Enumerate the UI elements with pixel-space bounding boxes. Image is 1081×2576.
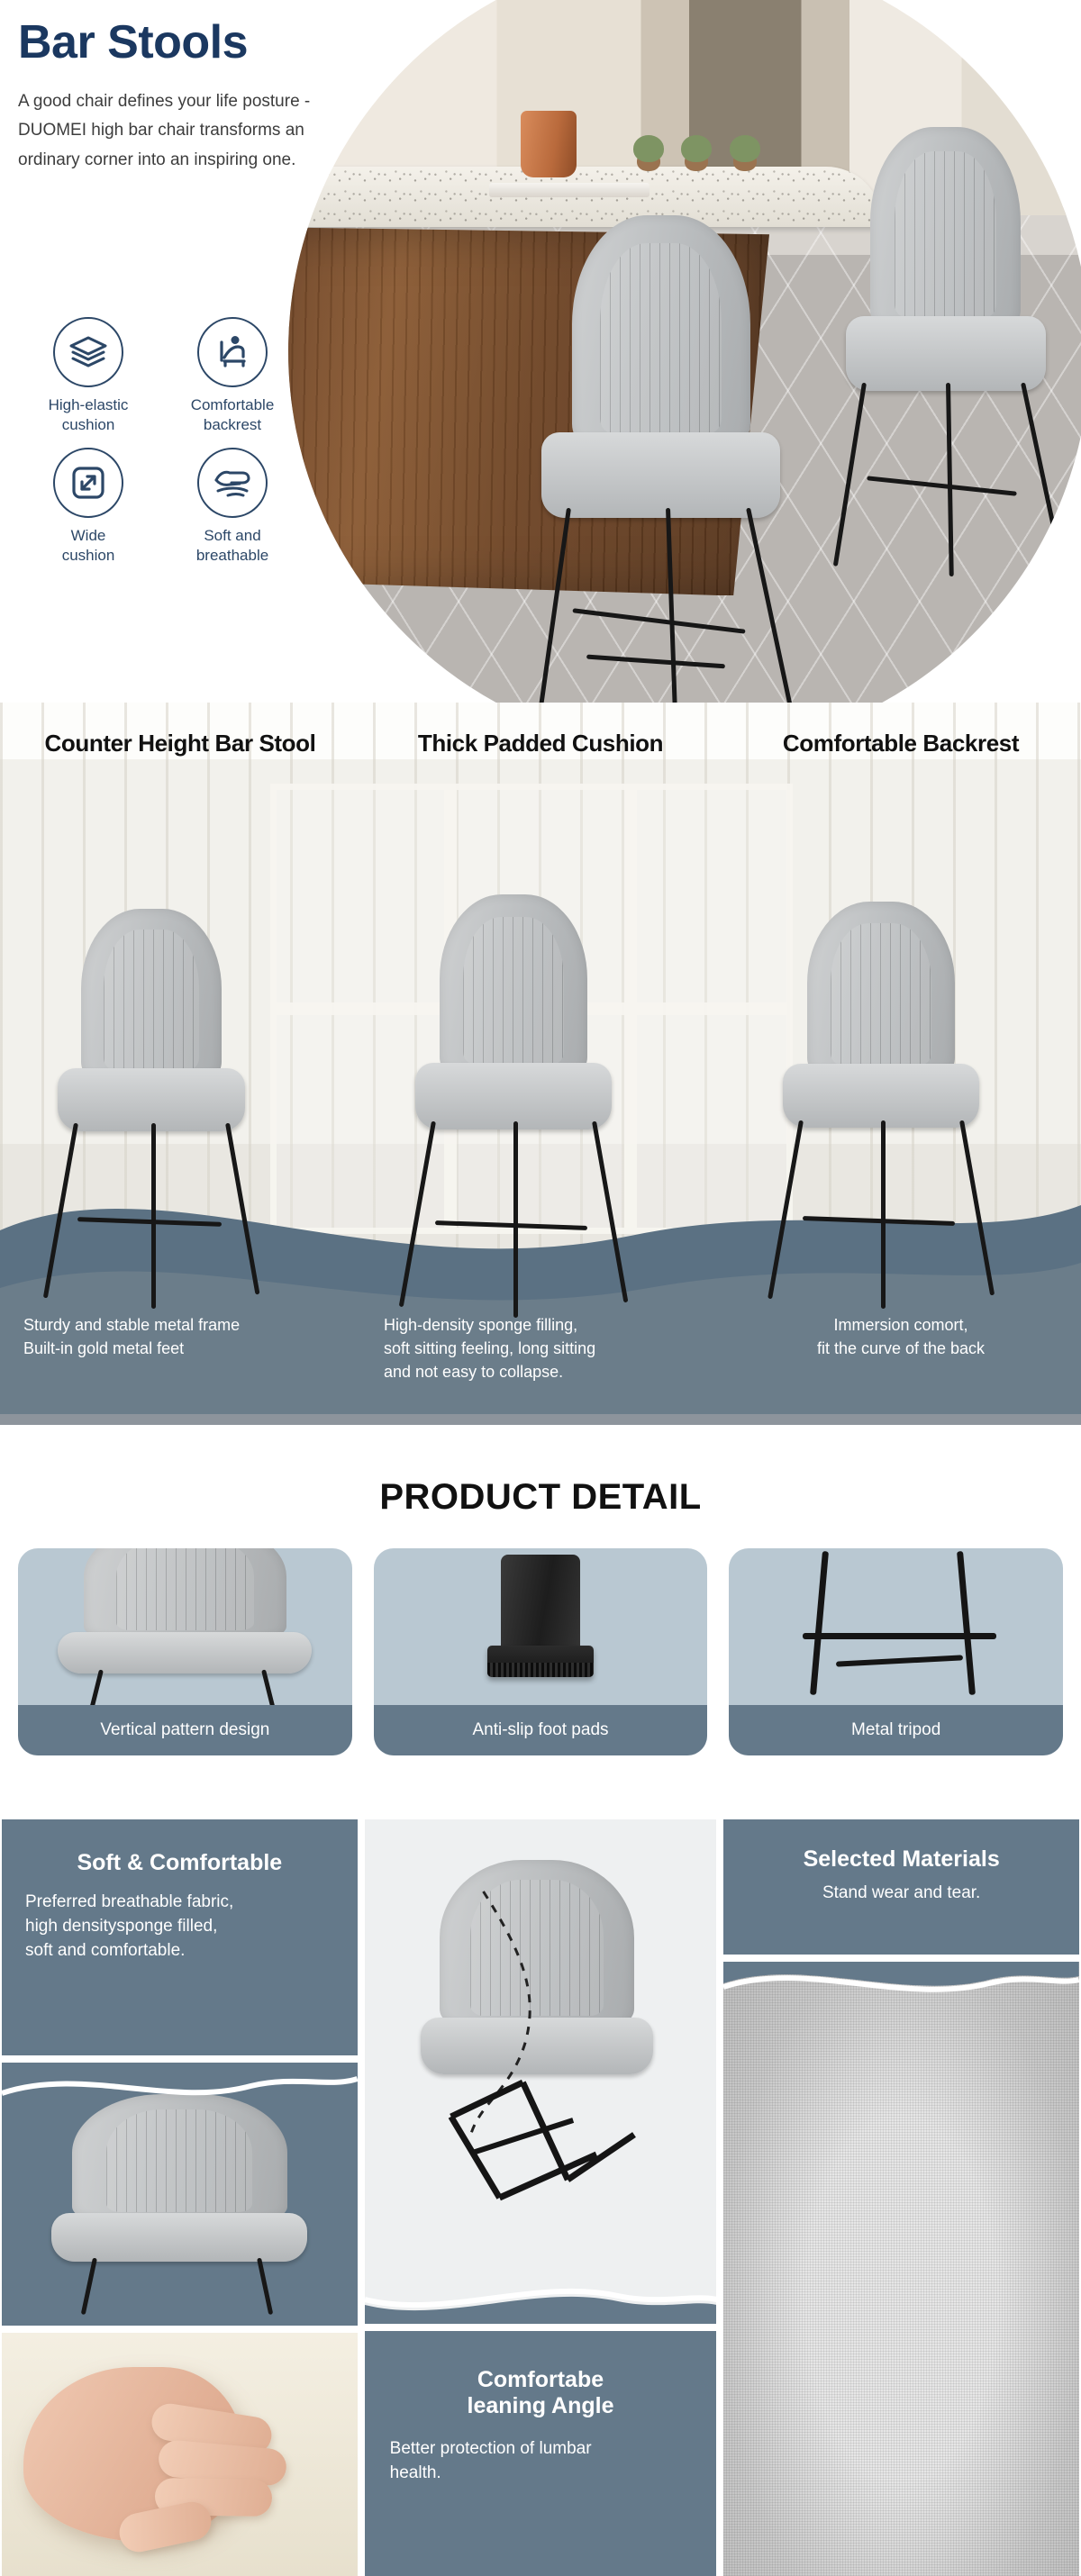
product-detail-title: PRODUCT DETAIL bbox=[0, 1425, 1081, 1518]
view-heading-thick-cushion: Thick Padded Cushion bbox=[360, 730, 721, 757]
bar-stool-side-view bbox=[54, 909, 249, 1279]
detail-card-vertical-pattern[interactable]: Vertical pattern design bbox=[18, 1548, 352, 1755]
stool-backrest bbox=[572, 215, 751, 453]
caption-line: Immersion comort, bbox=[744, 1313, 1058, 1337]
feature-label: Wide cushion bbox=[16, 526, 160, 566]
stool-seat bbox=[541, 432, 780, 518]
feature-label-line: breathable bbox=[196, 547, 268, 564]
bar-stool-back-view bbox=[778, 902, 984, 1279]
stool-seat bbox=[58, 1068, 244, 1131]
stool-seat bbox=[51, 2213, 307, 2262]
three-views-section: Counter Height Bar Stool Thick Padded Cu… bbox=[0, 703, 1081, 1414]
body-line: health. bbox=[390, 2462, 692, 2486]
section-divider-bar bbox=[0, 1414, 1081, 1425]
view-caption-frame: Sturdy and stable metal frame Built-in g… bbox=[0, 1313, 360, 1383]
stool-footrest bbox=[803, 1633, 996, 1639]
stool-footrest bbox=[803, 1216, 955, 1226]
seated-person-backrest-icon bbox=[197, 317, 268, 387]
stool-leg bbox=[257, 2257, 273, 2314]
feature-label-line: backrest bbox=[204, 416, 261, 433]
feature-label-line: cushion bbox=[62, 416, 115, 433]
wave-divider-bottom bbox=[365, 2281, 717, 2324]
feature-soft-and-breathable: Soft and breathable bbox=[160, 448, 304, 566]
stool-backrest bbox=[72, 2094, 287, 2222]
succulent-plant-prop bbox=[681, 135, 712, 162]
views-caption-row: Sturdy and stable metal frame Built-in g… bbox=[0, 1313, 1081, 1383]
stool-leg bbox=[81, 2257, 97, 2314]
detail-card-row: Vertical pattern design Anti-slip foot p… bbox=[0, 1518, 1081, 1755]
soft-chair-image bbox=[2, 2063, 358, 2326]
stool-leg bbox=[151, 1123, 156, 1308]
stool-leg bbox=[666, 508, 678, 703]
succulent-plant-prop bbox=[633, 135, 664, 162]
leaning-angle-body: Better protection of lumbar health. bbox=[390, 2437, 692, 2486]
view-caption-backrest: Immersion comort, fit the curve of the b… bbox=[721, 1313, 1081, 1383]
feature-label-line: Soft and bbox=[204, 527, 260, 544]
expand-arrows-icon bbox=[53, 448, 123, 518]
leaning-angle-image bbox=[365, 1819, 717, 2324]
soft-comfortable-panel: Soft & Comfortable Preferred breathable … bbox=[2, 1819, 358, 2055]
memory-foam-hand-image bbox=[2, 2333, 358, 2576]
feature-label-line: Wide bbox=[71, 527, 106, 544]
body-line: soft and comfortable. bbox=[25, 1939, 334, 1964]
detail-card-metal-tripod[interactable]: Metal tripod bbox=[729, 1548, 1063, 1755]
chair-seat-closeup bbox=[58, 1548, 312, 1705]
layers-cushion-icon bbox=[53, 317, 123, 387]
stool-leg bbox=[536, 508, 571, 703]
selected-materials-panel: Selected Materials Stand wear and tear. bbox=[723, 1819, 1079, 1955]
hero-text-block: Bar Stools A good chair defines your lif… bbox=[18, 18, 315, 176]
bar-stool-front bbox=[537, 215, 786, 703]
body-line: high densitysponge filled, bbox=[25, 1915, 334, 1939]
detail-card-image bbox=[374, 1548, 708, 1705]
caption-line: Built-in gold metal feet bbox=[23, 1337, 337, 1360]
lumbar-curve-annotation bbox=[365, 1819, 717, 2324]
selected-materials-body: Stand wear and tear. bbox=[747, 1882, 1056, 1906]
detail-card-image bbox=[729, 1548, 1063, 1705]
soft-comfortable-title: Soft & Comfortable bbox=[25, 1850, 334, 1876]
feature-label: High-elastic cushion bbox=[16, 395, 160, 435]
feature-high-elastic-cushion: High-elastic cushion bbox=[16, 317, 160, 435]
caption-line: High-density sponge filling, bbox=[384, 1313, 697, 1337]
bottom-column-left: Soft & Comfortable Preferred breathable … bbox=[2, 1819, 358, 2576]
page-title: Bar Stools bbox=[18, 18, 315, 68]
detail-card-caption: Metal tripod bbox=[729, 1705, 1063, 1755]
feature-label: Comfortable backrest bbox=[160, 395, 304, 435]
stool-backrest bbox=[870, 127, 1021, 334]
fabric-texture-image bbox=[723, 1962, 1079, 2576]
stool-backrest bbox=[440, 894, 587, 1078]
comfortable-leaning-angle-panel: Comfortabe leaning Angle Better protecti… bbox=[365, 2331, 717, 2576]
bottom-column-middle: Comfortabe leaning Angle Better protecti… bbox=[365, 1819, 717, 2576]
feature-comfortable-backrest: Comfortable backrest bbox=[160, 317, 304, 435]
stool-footrest bbox=[836, 1655, 963, 1666]
bottom-column-right: Selected Materials Stand wear and tear. bbox=[723, 1819, 1079, 2576]
leaning-angle-title: Comfortabe leaning Angle bbox=[390, 2367, 692, 2419]
feature-wide-cushion: Wide cushion bbox=[16, 448, 160, 566]
hero-subtitle: A good chair defines your life posture -… bbox=[18, 87, 315, 176]
product-detail-section: PRODUCT DETAIL Vertical pattern design A… bbox=[0, 1414, 1081, 1819]
feature-label-line: Comfortable bbox=[191, 396, 275, 413]
detail-card-caption: Vertical pattern design bbox=[18, 1705, 352, 1755]
wave-divider-top bbox=[2, 2063, 358, 2106]
detail-card-anti-slip-pads[interactable]: Anti-slip foot pads bbox=[374, 1548, 708, 1755]
stool-backrest bbox=[81, 909, 222, 1083]
bar-stool-front-view bbox=[411, 894, 616, 1286]
caption-line: soft sitting feeling, long sitting bbox=[384, 1337, 697, 1360]
stool-leg bbox=[957, 1551, 976, 1695]
stool-leg bbox=[86, 1669, 103, 1705]
feature-label: Soft and breathable bbox=[160, 526, 304, 566]
stool-seat bbox=[415, 1063, 613, 1129]
anti-slip-foot-pad bbox=[487, 1646, 595, 1677]
window-pane bbox=[631, 784, 793, 1009]
bottom-feature-grid: Soft & Comfortable Preferred breathable … bbox=[0, 1819, 1081, 2576]
stool-backrest bbox=[84, 1548, 286, 1640]
succulent-plant-prop bbox=[730, 135, 760, 162]
stool-leg bbox=[946, 383, 954, 576]
hero-section: Bar Stools A good chair defines your lif… bbox=[0, 0, 1081, 703]
stool-seat bbox=[783, 1064, 980, 1128]
views-heading-row: Counter Height Bar Stool Thick Padded Cu… bbox=[0, 730, 1081, 757]
stool-seat bbox=[58, 1632, 312, 1673]
stool-leg bbox=[810, 1551, 829, 1695]
view-caption-cushion: High-density sponge filling, soft sittin… bbox=[360, 1313, 721, 1383]
stool-footrest bbox=[77, 1217, 222, 1227]
body-line: Better protection of lumbar bbox=[390, 2437, 692, 2462]
feature-label-line: cushion bbox=[62, 547, 115, 564]
stool-footrest bbox=[586, 655, 725, 669]
soft-hand-breathable-icon bbox=[197, 448, 268, 518]
caption-line: Sturdy and stable metal frame bbox=[23, 1313, 337, 1337]
title-line: Comfortabe bbox=[477, 2367, 604, 2392]
stool-leg bbox=[261, 1669, 278, 1705]
caption-line: fit the curve of the back bbox=[744, 1337, 1058, 1360]
view-heading-counter-height: Counter Height Bar Stool bbox=[0, 730, 360, 757]
stool-seat bbox=[846, 316, 1046, 391]
body-line: Preferred breathable fabric, bbox=[25, 1891, 334, 1915]
stool-footrest bbox=[572, 608, 745, 633]
caption-line: and not easy to collapse. bbox=[384, 1360, 697, 1383]
chair-closeup bbox=[51, 2094, 307, 2315]
view-heading-comfortable-backrest: Comfortable Backrest bbox=[721, 730, 1081, 757]
bar-stool-back bbox=[841, 127, 1049, 568]
magazine-prop bbox=[489, 183, 650, 197]
stool-footrest bbox=[435, 1220, 587, 1230]
wave-divider-top bbox=[723, 1962, 1079, 2005]
selected-materials-title: Selected Materials bbox=[747, 1846, 1056, 1873]
title-line: leaning Angle bbox=[468, 2393, 614, 2418]
detail-card-caption: Anti-slip foot pads bbox=[374, 1705, 708, 1755]
copper-bucket-prop bbox=[521, 111, 577, 177]
stool-leg bbox=[881, 1120, 886, 1309]
stool-footrest bbox=[867, 476, 1016, 496]
feature-label-line: High-elastic bbox=[49, 396, 129, 413]
soft-comfortable-body: Preferred breathable fabric, high densit… bbox=[25, 1891, 334, 1964]
stool-backrest bbox=[807, 902, 955, 1079]
hero-product-photo bbox=[288, 0, 1081, 703]
stool-leg bbox=[513, 1121, 518, 1317]
feature-icon-grid: High-elastic cushion Comfortable backres… bbox=[16, 317, 304, 566]
stool-leg bbox=[746, 507, 793, 703]
detail-card-image bbox=[18, 1548, 352, 1705]
stool-leg-tube bbox=[501, 1555, 581, 1655]
